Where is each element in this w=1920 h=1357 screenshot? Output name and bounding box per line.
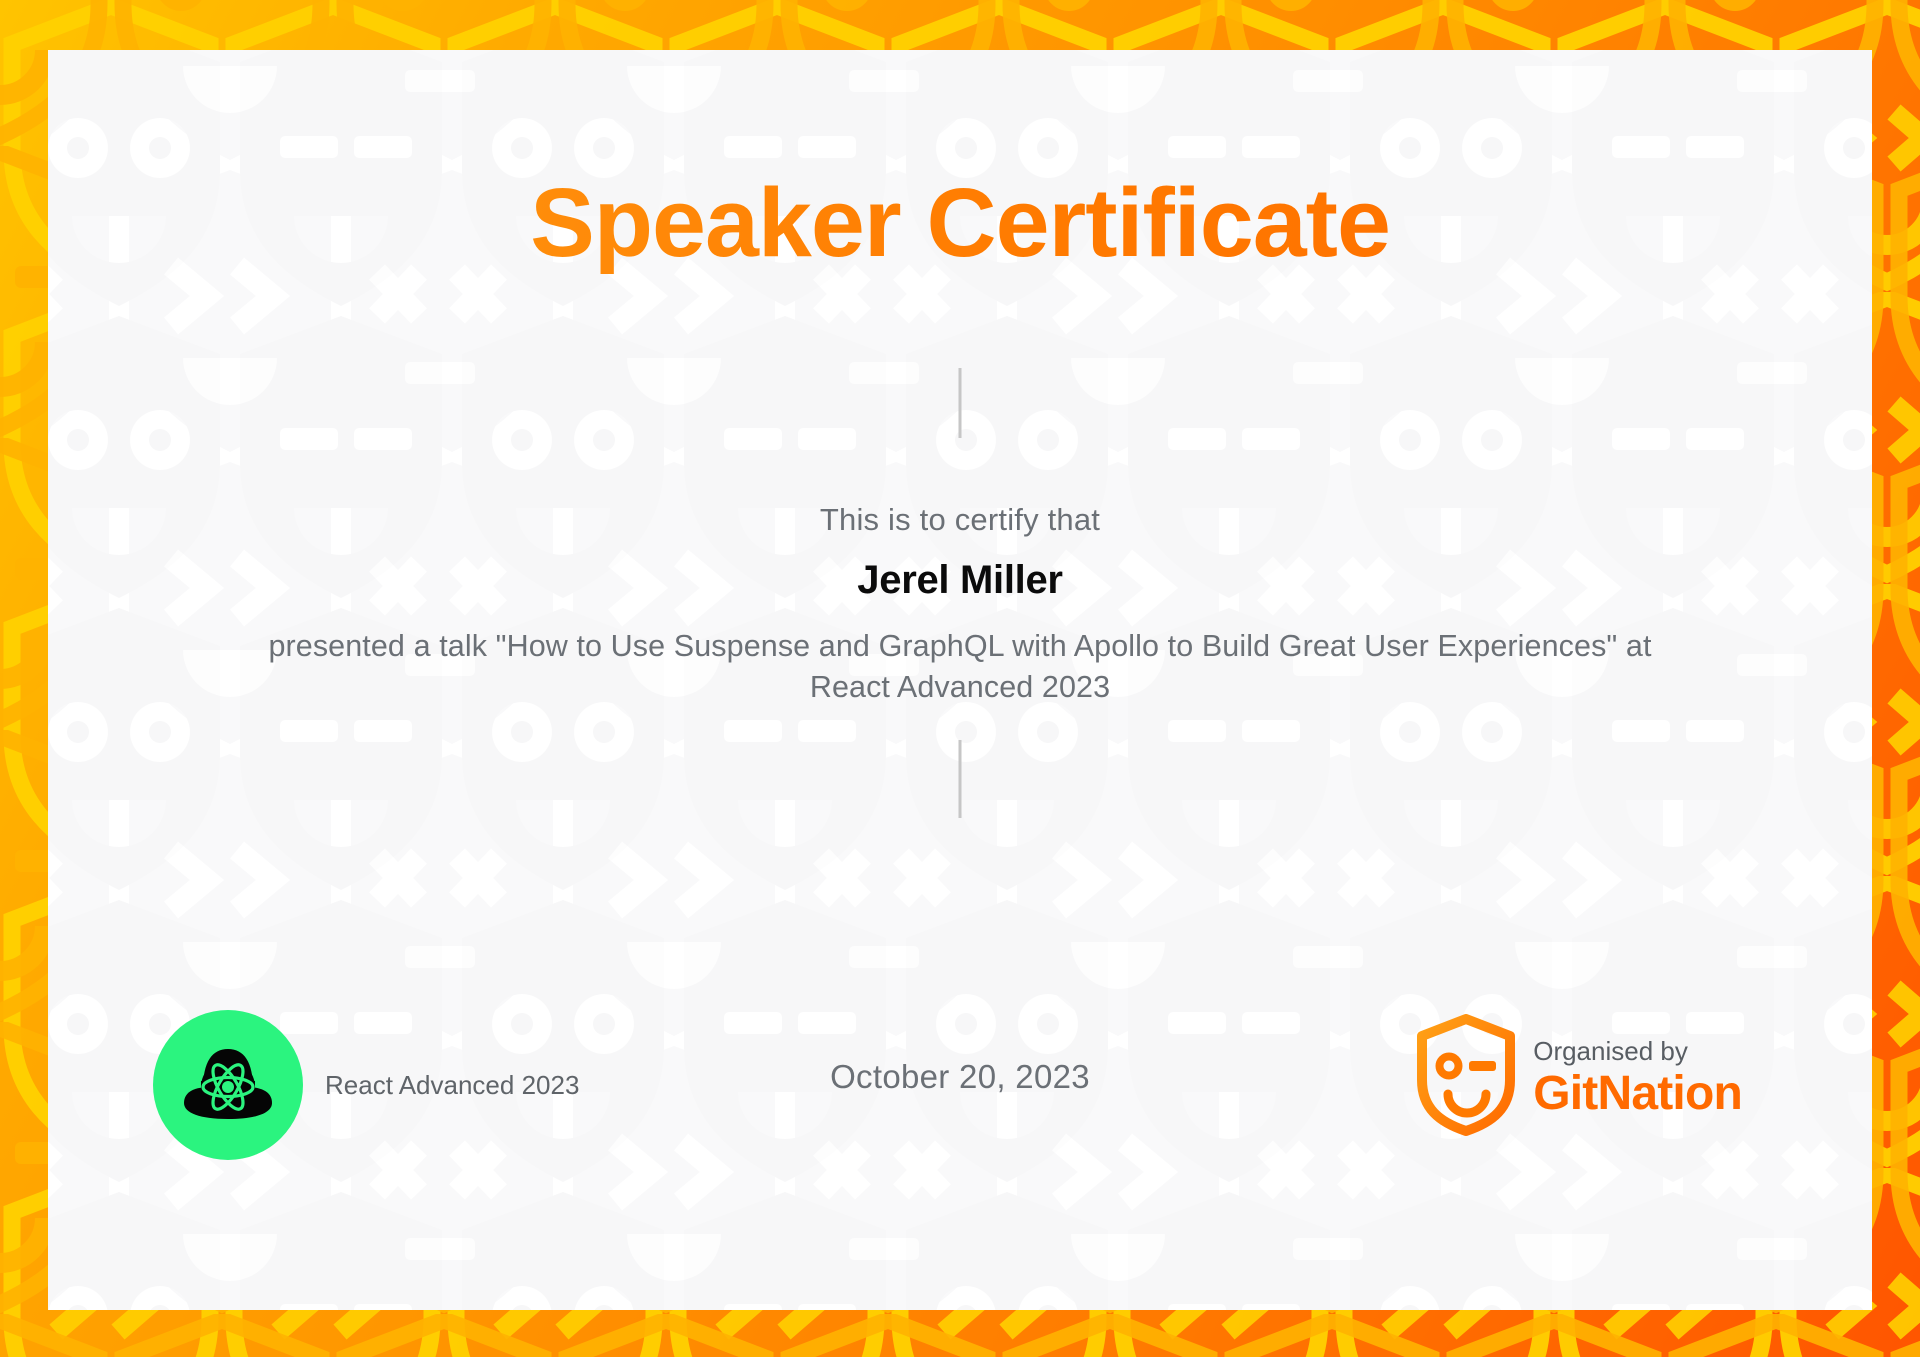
page-title: Speaker Certificate [48, 172, 1872, 274]
certify-line: This is to certify that [48, 502, 1872, 538]
recipient-name: Jerel Miller [48, 558, 1872, 603]
organiser-name: GitNation [1533, 1070, 1742, 1118]
divider-top [959, 368, 962, 438]
divider-bottom [959, 740, 962, 818]
certificate-footer: React Advanced 2023 October 20, 2023 [48, 1010, 1872, 1190]
certificate-root: Speaker Certificate This is to certify t… [0, 0, 1920, 1357]
organiser-block: Organised by GitNation [1415, 1014, 1742, 1141]
certificate-card: Speaker Certificate This is to certify t… [48, 50, 1872, 1310]
organised-by-label: Organised by [1533, 1038, 1742, 1064]
gitnation-shield-face-icon [1415, 1014, 1517, 1141]
talk-description: presented a talk "How to Use Suspense an… [228, 626, 1692, 708]
